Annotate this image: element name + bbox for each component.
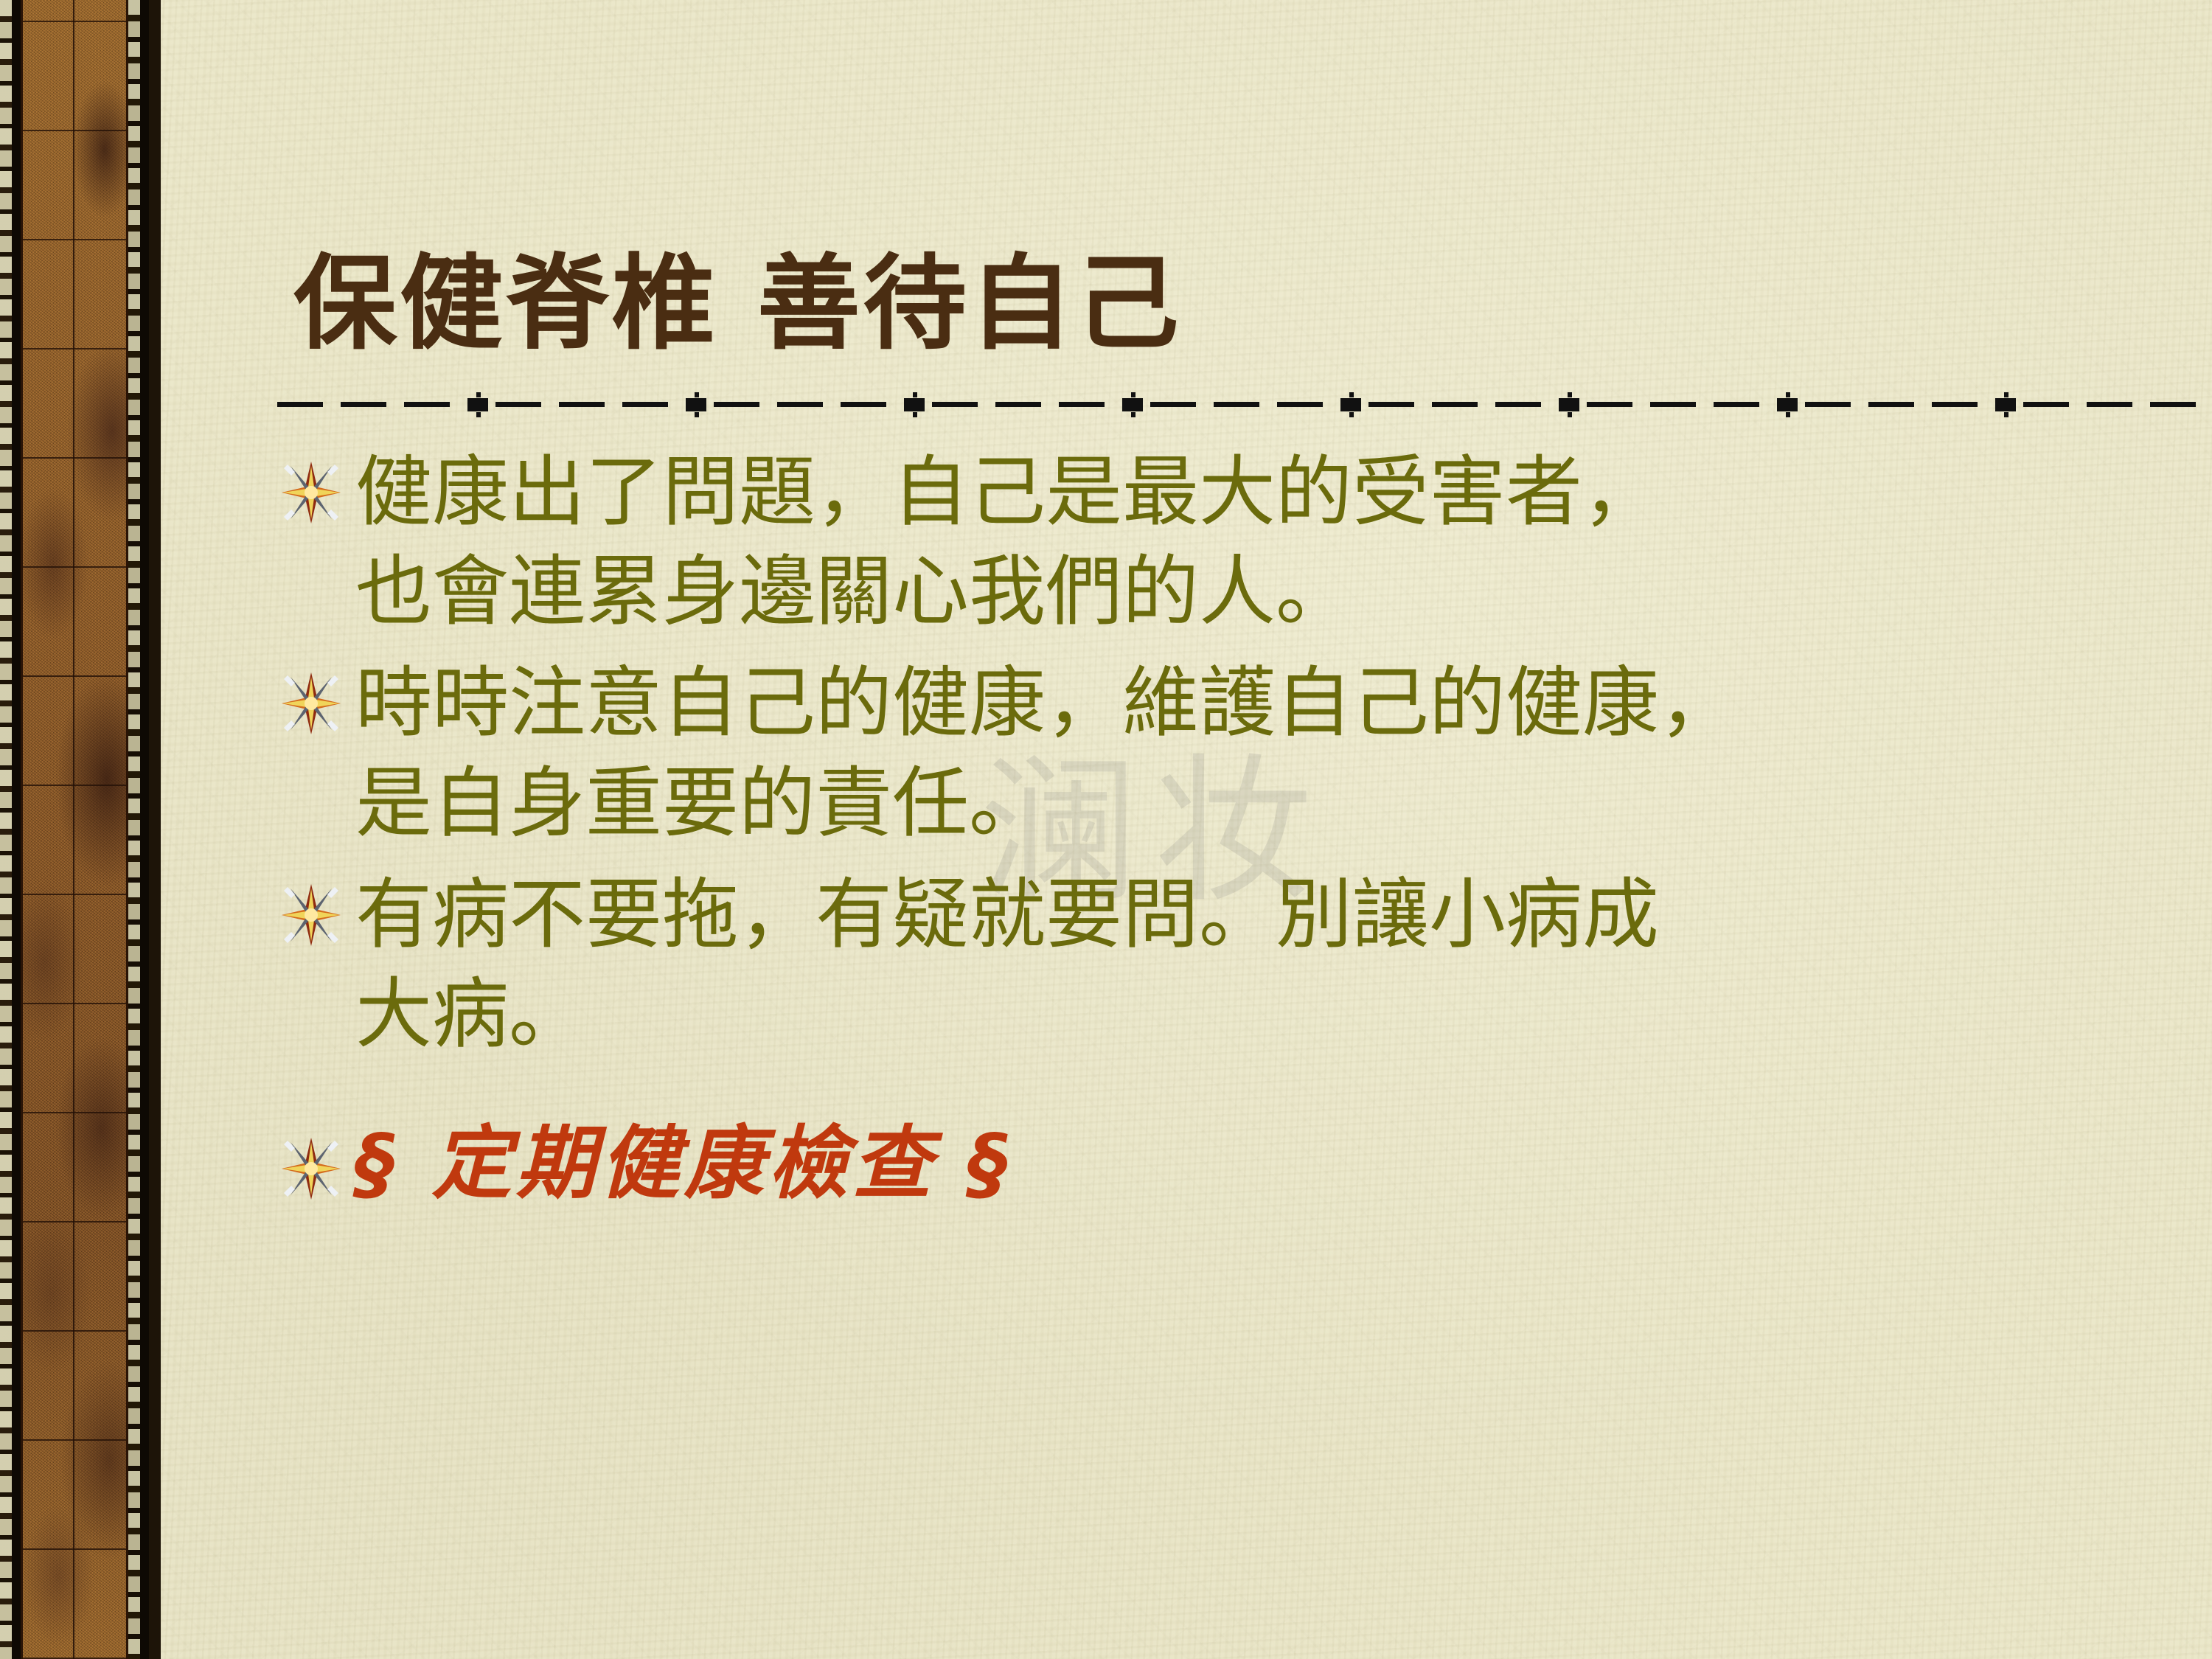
list-item-text: 健康出了問題，自己是最大的受害者， 也會連累身邊關心我們的人。 (355, 442, 2212, 641)
left-decorative-border (0, 0, 161, 1659)
list-item-text-accent: § 定期健康檢查 § (355, 1113, 2212, 1216)
title-divider-rule (277, 389, 2212, 419)
border-inner-edge-strip (128, 0, 140, 1659)
border-outer-edge-strip (0, 0, 12, 1659)
list-item: 健康出了問題，自己是最大的受害者， 也會連累身邊關心我們的人。 (279, 442, 2212, 641)
sparkle-star-icon (279, 454, 344, 531)
slide-title: 保健脊椎 善待自己 (293, 250, 1182, 358)
list-item-text: 時時注意自己的健康，維護自己的健康， 是自身重要的責任。 (355, 653, 2212, 852)
border-dark-strip-right (140, 0, 149, 1659)
bullet-list: 健康出了問題，自己是最大的受害者， 也會連累身邊關心我們的人。 (279, 442, 2212, 1228)
border-panel-frame (21, 0, 128, 1659)
list-item: 有病不要拖，有疑就要問。別讓小病成 大病。 (279, 865, 2212, 1064)
border-dark-strip-left (12, 0, 21, 1659)
list-item: § 定期健康檢查 § (279, 1113, 2212, 1216)
sparkle-star-icon (279, 665, 344, 742)
list-item-text: 有病不要拖，有疑就要問。別讓小病成 大病。 (355, 865, 2212, 1064)
list-item: 時時注意自己的健康，維護自己的健康， 是自身重要的責任。 (279, 653, 2212, 852)
presentation-slide: 澜妆 保健脊椎 善待自己 (0, 0, 2212, 1659)
sparkle-star-icon (279, 877, 344, 953)
slide-content-area: 澜妆 保健脊椎 善待自己 (161, 0, 2212, 1659)
sparkle-star-icon (279, 1130, 344, 1207)
